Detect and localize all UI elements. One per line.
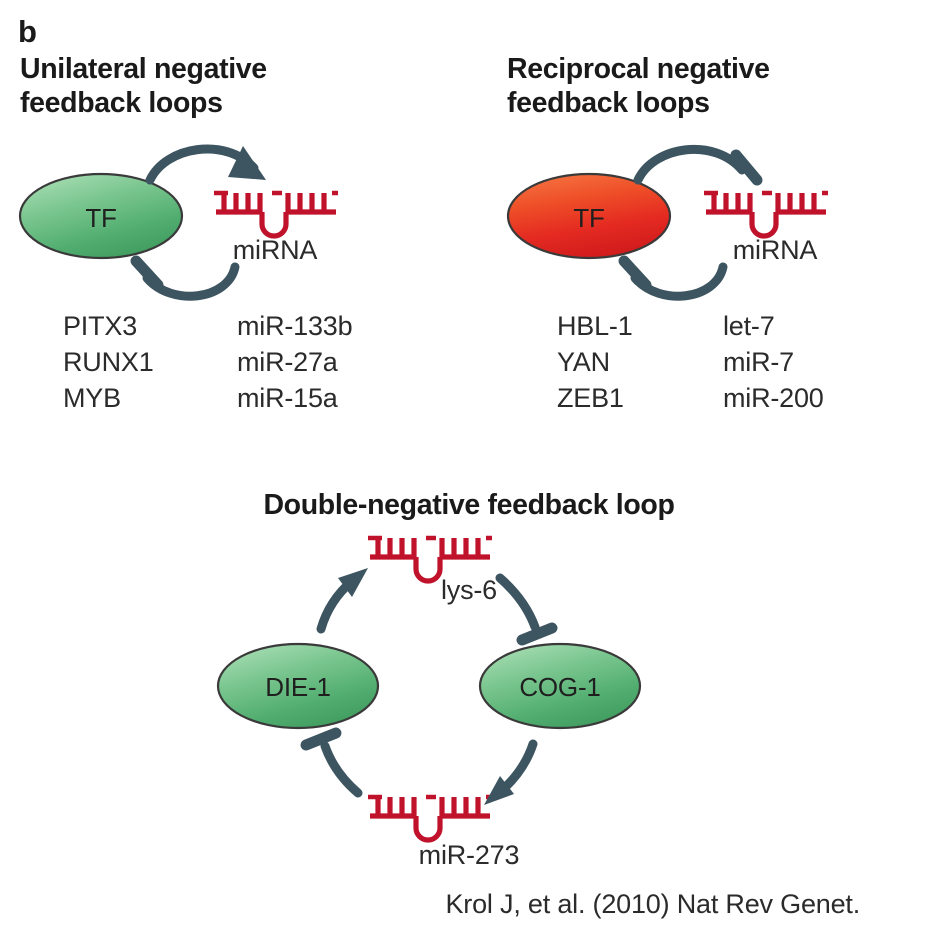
node-cog-1[interactable] — [480, 644, 640, 728]
node-tf-reciprocal[interactable] — [508, 174, 670, 258]
edge-tf-to-mirna-activation — [150, 146, 266, 180]
reciprocal-diagram — [508, 149, 828, 296]
mirna-caption-lys6: lys-6 — [379, 575, 559, 606]
gene-list-unilateral-tf: PITX3 RUNX1 MYB — [63, 308, 154, 416]
edge-mirna-to-tf-repression — [136, 261, 235, 296]
mirna-caption-reciprocal: miRNA — [675, 235, 875, 266]
heading-unilateral: Unilateral negative feedback loops — [20, 52, 267, 120]
citation: Krol J, et al. (2010) Nat Rev Genet. — [0, 889, 938, 920]
edge-mirna-to-tf-repression-reciprocal — [624, 261, 723, 296]
mirna-caption-unilateral: miRNA — [175, 235, 375, 266]
mirna-hairpin-icon-mir273 — [368, 797, 492, 840]
unilateral-diagram — [20, 146, 338, 296]
edge-cog1-to-mir273-activation — [484, 744, 533, 805]
diagram-canvas — [0, 0, 938, 940]
node-tf-unilateral[interactable] — [20, 174, 182, 258]
panel-letter: b — [18, 14, 37, 50]
mirna-hairpin-icon-reciprocal — [704, 193, 828, 236]
heading-reciprocal: Reciprocal negative feedback loops — [507, 52, 770, 120]
gene-list-reciprocal-mirna: let-7 miR-7 miR-200 — [723, 308, 824, 416]
figure-root: b Unilateral negative feedback loops Rec… — [0, 0, 938, 940]
edge-die1-to-lys6-activation — [321, 568, 368, 629]
mirna-caption-mir273: miR-273 — [379, 840, 559, 871]
section-title-double-negative: Double-negative feedback loop — [0, 489, 938, 522]
mirna-hairpin-icon-unilateral — [214, 193, 338, 236]
edge-tf-to-mirna-repression — [638, 149, 757, 180]
node-die-1[interactable] — [218, 644, 378, 728]
gene-list-unilateral-mirna: miR-133b miR-27a miR-15a — [237, 308, 352, 416]
edge-mir273-to-die1-repression — [306, 733, 358, 793]
gene-list-reciprocal-tf: HBL-1 YAN ZEB1 — [557, 308, 633, 416]
